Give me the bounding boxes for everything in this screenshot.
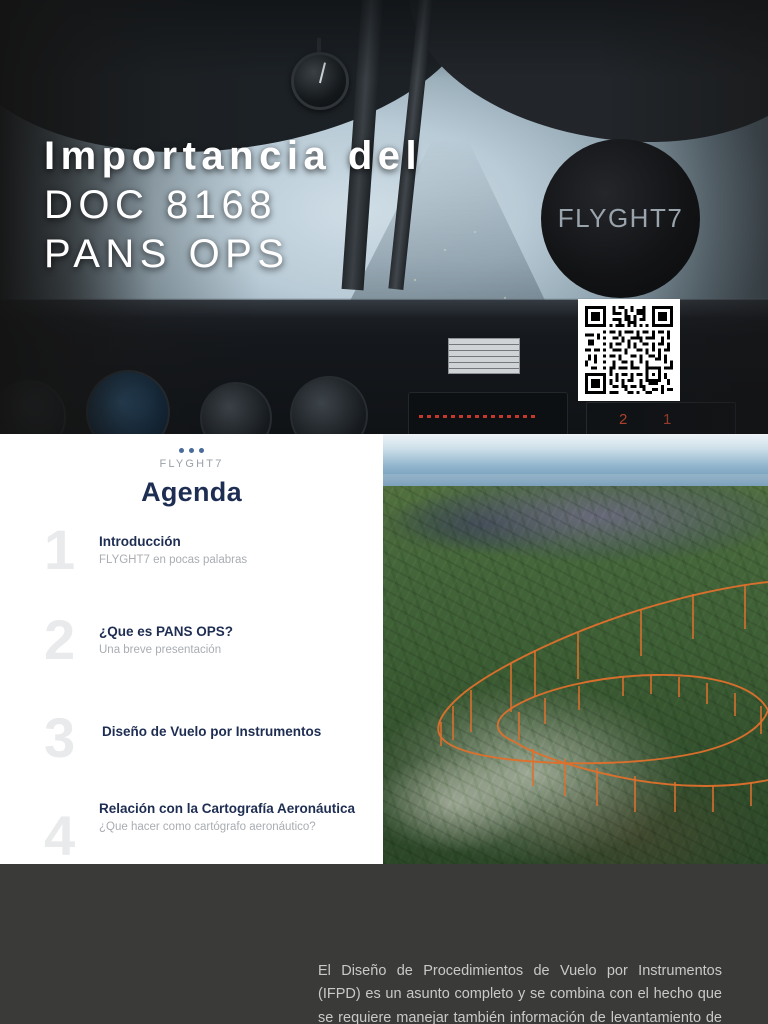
agenda-panel: FLYGHT7 Agenda 1 Introducción FLYGHT7 en… — [0, 434, 383, 864]
page-title: Importancia del DOC 8168 PANS OPS — [44, 136, 422, 274]
presentation-page: Importancia del DOC 8168 PANS OPS FLYGHT… — [0, 0, 768, 1024]
agenda-item-number: 1 — [44, 522, 74, 578]
agenda-item-label: Diseño de Vuelo por Instrumentos — [102, 724, 369, 739]
agenda-title: Agenda — [0, 477, 383, 508]
qr-code-icon — [585, 306, 673, 394]
agenda-item-number: 3 — [44, 710, 74, 766]
title-line-1: Importancia del — [44, 136, 422, 176]
agenda-item-subtitle: Una breve presentación — [99, 644, 369, 656]
agenda-item-label: ¿Que es PANS OPS? — [99, 624, 369, 639]
agenda-item-subtitle: FLYGHT7 en pocas palabras — [99, 554, 369, 566]
title-line-2: DOC 8168 — [44, 185, 422, 225]
agenda-item-label: Introducción — [99, 534, 369, 549]
agenda-slide: FLYGHT7 Agenda 1 Introducción FLYGHT7 en… — [0, 434, 768, 864]
qr-code[interactable] — [578, 299, 680, 401]
agenda-item-1[interactable]: 1 Introducción FLYGHT7 en pocas palabras — [44, 526, 369, 616]
hero-slide: Importancia del DOC 8168 PANS OPS FLYGHT… — [0, 0, 768, 434]
agenda-item-number: 2 — [44, 612, 74, 668]
description-slide: El Diseño de Procedimientos de Vuelo por… — [0, 864, 768, 1024]
agenda-header: FLYGHT7 Agenda — [0, 434, 383, 508]
flyght7-logo-text: FLYGHT7 — [558, 203, 684, 234]
agenda-item-number: 4 — [44, 808, 74, 864]
flyght7-logo: FLYGHT7 — [541, 139, 700, 298]
body-paragraph: El Diseño de Procedimientos de Vuelo por… — [318, 960, 722, 1024]
agenda-item-subtitle: ¿Que hacer como cartógrafo aeronáutico? — [99, 821, 369, 833]
brandmark-label: FLYGHT7 — [0, 458, 383, 470]
terrain-3d-image — [383, 434, 768, 864]
dots-decoration-icon — [0, 448, 383, 453]
agenda-item-2[interactable]: 2 ¿Que es PANS OPS? Una breve presentaci… — [44, 616, 369, 706]
agenda-item-label: Relación con la Cartografía Aeronáutica — [99, 801, 369, 816]
agenda-item-3[interactable]: 3 Diseño de Vuelo por Instrumentos — [44, 706, 369, 796]
procedure-protection-area-overlay — [383, 434, 768, 864]
agenda-list: 1 Introducción FLYGHT7 en pocas palabras… — [0, 526, 383, 886]
title-line-3: PANS OPS — [44, 234, 422, 274]
